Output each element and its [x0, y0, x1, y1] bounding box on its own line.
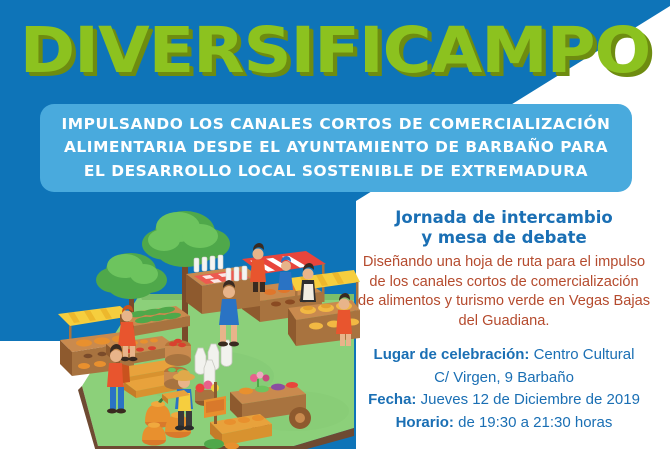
- detail-date: Fecha: Jueves 12 de Diciembre de 2019: [342, 389, 666, 412]
- event-heading-line-1: Jornada de intercambio: [342, 208, 666, 228]
- detail-date-value: Jueves 12 de Diciembre de 2019: [416, 391, 639, 408]
- event-description-line-3: de alimentos y turismo verde en Vegas Ba…: [342, 292, 666, 312]
- poster-root: DIVERSIFICAMPO IMPULSANDO LOS CANALES CO…: [0, 0, 670, 449]
- detail-address: C/ Virgen, 9 Barbaño: [342, 367, 666, 390]
- event-heading: Jornada de intercambio y mesa de debate: [342, 208, 666, 248]
- subtitle-line-1: IMPULSANDO LOS CANALES CORTOS DE COMERCI…: [48, 113, 624, 137]
- event-description-line-2: de los canales cortos de comercializació…: [342, 273, 666, 293]
- event-heading-line-2: y mesa de debate: [342, 228, 666, 248]
- event-description-line-4: del Guadiana.: [342, 312, 666, 332]
- detail-venue-value: Centro Cultural: [529, 346, 634, 363]
- event-description-line-1: Diseñando una hoja de ruta para el impul…: [342, 253, 666, 273]
- event-details: Lugar de celebración: Centro Cultural C/…: [342, 344, 666, 434]
- subtitle-banner: IMPULSANDO LOS CANALES CORTOS DE COMERCI…: [40, 104, 632, 192]
- detail-venue: Lugar de celebración: Centro Cultural: [342, 344, 666, 367]
- detail-time: Horario: de 19:30 a 21:30 horas: [342, 412, 666, 435]
- detail-time-label: Horario:: [396, 414, 454, 431]
- subtitle-line-2: ALIMENTARIA DESDE EL AYUNTAMIENTO DE BAR…: [48, 136, 624, 160]
- detail-time-value: de 19:30 a 21:30 horas: [454, 414, 612, 431]
- subtitle-line-3: EL DESARROLLO LOCAL SOSTENIBLE DE EXTREM…: [48, 160, 624, 184]
- detail-date-label: Fecha:: [368, 391, 416, 408]
- detail-venue-label: Lugar de celebración:: [374, 346, 530, 363]
- subtitle-text: IMPULSANDO LOS CANALES CORTOS DE COMERCI…: [40, 113, 632, 184]
- market-illustration: [54, 196, 360, 449]
- detail-address-value: C/ Virgen, 9 Barbaño: [434, 369, 574, 386]
- event-description: Diseñando una hoja de ruta para el impul…: [342, 253, 666, 331]
- page-title: DIVERSIFICAMPO: [0, 17, 670, 85]
- event-info-block: Jornada de intercambio y mesa de debate …: [342, 208, 666, 434]
